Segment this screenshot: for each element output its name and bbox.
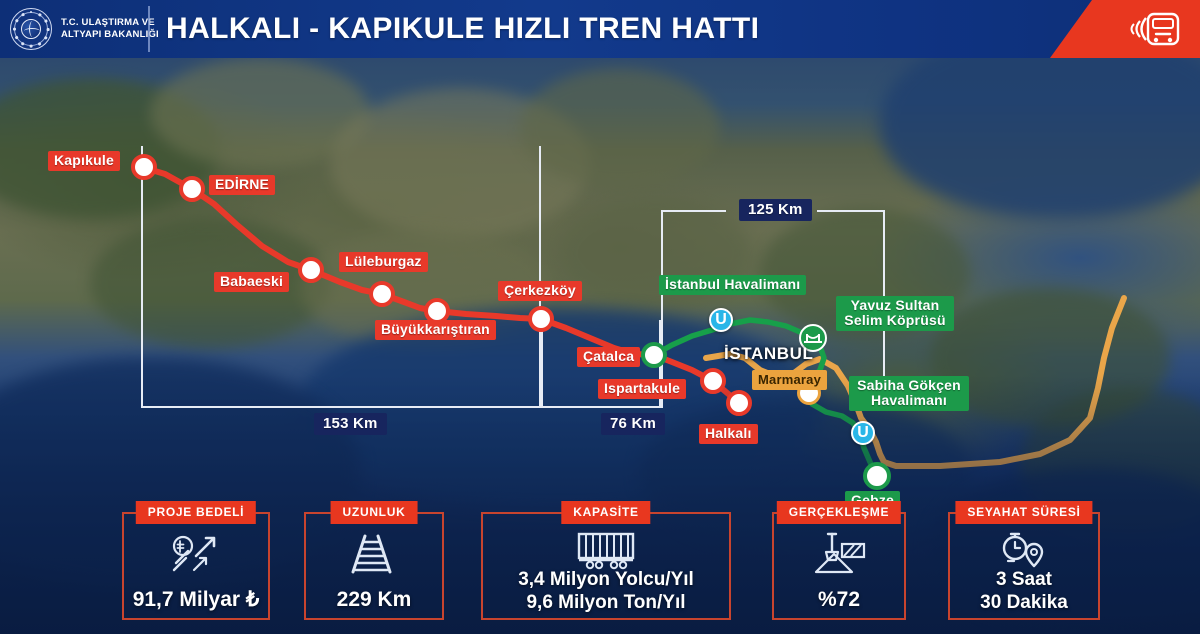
stats-row: PROJE BEDELİ 91,7 Milyar ₺ UZUNLUK 229 K… (0, 504, 1200, 624)
freight-wagon-icon (573, 530, 639, 572)
stat-card-seyahat-suresi: SEYAHAT SÜRESİ 3 Saat 30 Dakika (948, 512, 1100, 620)
station-node-ispartakule[interactable] (700, 368, 726, 394)
ministry-name: T.C. ULAŞTIRMA VE ALTYAPI BAKANLIĞI (61, 17, 159, 41)
distance-badge-76km: 76 Km (601, 413, 665, 435)
station-label-luleburgaz: Lüleburgaz (339, 252, 428, 272)
distance-badge-153km: 153 Km (314, 413, 387, 435)
station-label-halkali: Halkalı (699, 424, 758, 444)
train-icon (1118, 9, 1182, 49)
ministry-brand: T.C. ULAŞTIRMA VE ALTYAPI BAKANLIĞI (10, 8, 159, 50)
station-label-cerkezkoy: Çerkezköy (498, 281, 582, 301)
station-label-buyukkaristiran: Büyükkarıştıran (375, 320, 496, 340)
station-label-ispartakule: Ispartakule (598, 379, 686, 399)
stat-caption-gerceklesme: GERÇEKLEŞME (777, 501, 901, 524)
station-label-yavuz-sultan-selim-koprusu: Yavuz Sultan Selim Köprüsü (836, 296, 954, 331)
stat-card-proje-bedeli: PROJE BEDELİ 91,7 Milyar ₺ (122, 512, 270, 620)
stat-value-kapasite-line1: 3,4 Milyon Yolcu/Yıl (483, 568, 729, 591)
stat-value-kapasite-line2: 9,6 Milyon Ton/Yıl (483, 591, 729, 614)
station-node-babaeski[interactable] (298, 257, 324, 283)
stat-caption-uzunluk: UZUNLUK (331, 501, 418, 524)
station-label-istanbul-havalimani: İstanbul Havalimanı (659, 275, 806, 295)
station-node-halkali[interactable] (726, 390, 752, 416)
station-node-luleburgaz[interactable] (369, 281, 395, 307)
metro-marker-istanbul-airport[interactable]: U (709, 308, 733, 332)
stat-value-seyahat-suresi: 3 Saat 30 Dakika (950, 568, 1098, 614)
station-label-sabiha-gokcen-havalimani: Sabiha Gökçen Havalimanı (849, 376, 969, 411)
station-node-kapikule[interactable] (131, 154, 157, 180)
stat-value-uzunluk: 229 Km (306, 587, 442, 612)
station-node-cerkezkoy[interactable] (528, 306, 554, 332)
header-train-badge (1050, 0, 1200, 58)
ministry-name-line2: ALTYAPI BAKANLIĞI (61, 29, 159, 41)
distance-badge-125km: 125 Km (739, 199, 812, 221)
stat-card-kapasite: KAPASİTE 3,4 Milyon Yolcu/Yıl 9,6 Milyon… (481, 512, 731, 620)
stat-card-uzunluk: UZUNLUK 229 Km (304, 512, 444, 620)
stat-value-seyahat-line2: 30 Dakika (950, 591, 1098, 614)
station-node-edirne[interactable] (179, 176, 205, 202)
stat-value-seyahat-line1: 3 Saat (950, 568, 1098, 591)
station-label-babaeski: Babaeski (214, 272, 289, 292)
stat-caption-seyahat-suresi: SEYAHAT SÜRESİ (955, 501, 1092, 524)
city-label-istanbul: İSTANBUL (718, 344, 819, 364)
station-label-kapikule: Kapıkule (48, 151, 120, 171)
railway-track-icon (345, 530, 403, 578)
page-header: T.C. ULAŞTIRMA VE ALTYAPI BAKANLIĞI HALK… (0, 0, 1200, 58)
lira-growth-arrow-icon (166, 530, 226, 580)
stat-value-kapasite: 3,4 Milyon Yolcu/Yıl 9,6 Milyon Ton/Yıl (483, 568, 729, 614)
page-title: HALKALI - KAPIKULE HIZLI TREN HATTI (166, 12, 759, 46)
stat-caption-kapasite: KAPASİTE (561, 501, 650, 524)
station-node-gebze[interactable] (863, 462, 891, 490)
ministry-name-line1: T.C. ULAŞTIRMA VE (61, 17, 159, 29)
ministry-emblem-icon (10, 8, 52, 50)
metro-marker-sabiha-gokcen[interactable]: U (851, 421, 875, 445)
construction-shovel-icon (808, 530, 870, 578)
stat-card-gerceklesme: GERÇEKLEŞME %72 (772, 512, 906, 620)
marmaray-label: Marmaray (752, 370, 827, 390)
infographic-root: T.C. ULAŞTIRMA VE ALTYAPI BAKANLIĞI HALK… (0, 0, 1200, 634)
station-label-catalca: Çatalca (577, 347, 640, 367)
stat-value-proje-bedeli: 91,7 Milyar ₺ (124, 587, 268, 612)
stat-value-gerceklesme: %72 (774, 587, 904, 612)
station-label-edirne: EDİRNE (209, 175, 275, 195)
station-node-catalca[interactable] (641, 342, 667, 368)
stat-caption-proje-bedeli: PROJE BEDELİ (136, 501, 256, 524)
header-divider (148, 6, 150, 52)
